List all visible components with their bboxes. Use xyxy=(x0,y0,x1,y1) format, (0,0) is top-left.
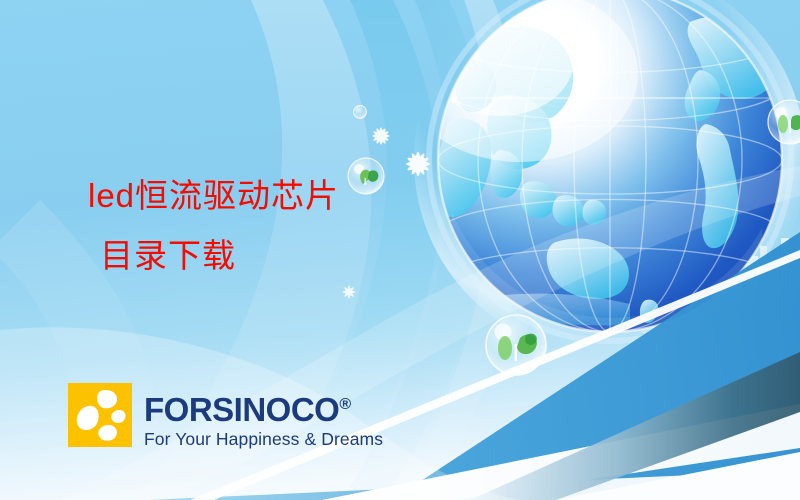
company-logo[interactable]: FORSINOCO® For Your Happiness & Dreams xyxy=(68,383,383,449)
headline: led恒流驱动芯片 目录下载 xyxy=(88,166,339,286)
registered-trademark-icon: ® xyxy=(339,396,351,413)
logo-text-block: FORSINOCO® For Your Happiness & Dreams xyxy=(144,383,383,449)
logo-mark-icon xyxy=(68,383,132,447)
headline-line-2: 目录下载 xyxy=(88,226,339,286)
bubble-icon xyxy=(348,158,384,194)
headline-line-1: led恒流驱动芯片 xyxy=(88,177,339,214)
pinwheel-petals-icon xyxy=(77,390,126,441)
logo-tagline: For Your Happiness & Dreams xyxy=(144,429,383,449)
bubble-icon xyxy=(354,106,367,119)
daisy-icon xyxy=(342,285,355,298)
logo-wordmark: FORSINOCO® xyxy=(144,387,383,428)
logo-wordmark-text: FORSINOCO xyxy=(144,391,339,428)
promo-banner: led恒流驱动芯片 目录下载 FORSINOCO® For Your Happi… xyxy=(0,0,800,500)
